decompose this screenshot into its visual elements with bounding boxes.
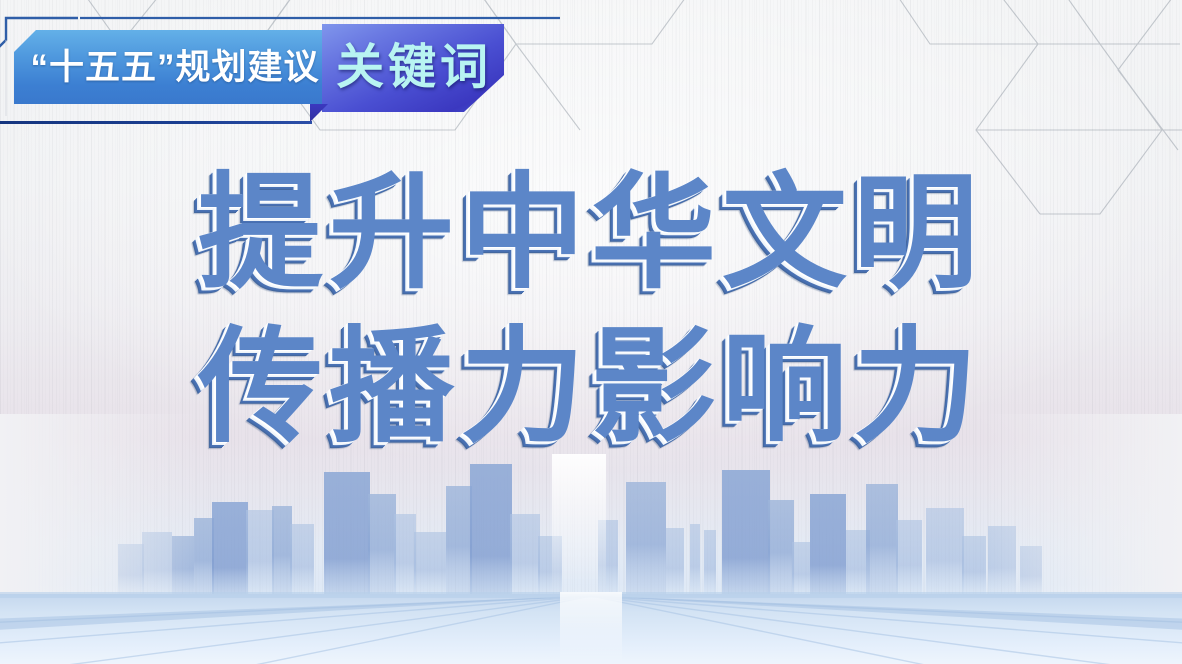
badge-secondary-label: 关键词 (322, 44, 492, 92)
badge-primary-panel: “十五五”规划建议 (14, 30, 328, 104)
keyword-badge: “十五五”规划建议 关键词 (0, 16, 560, 134)
badge-underline-rule (0, 121, 312, 124)
poster-canvas: “十五五”规划建议 关键词 提升中华文明 传播力影响力 (0, 0, 1182, 664)
badge-corner-notch (310, 104, 328, 122)
badge-primary-label: “十五五”规划建议 (22, 50, 319, 85)
badge-secondary-panel: 关键词 (322, 24, 504, 112)
